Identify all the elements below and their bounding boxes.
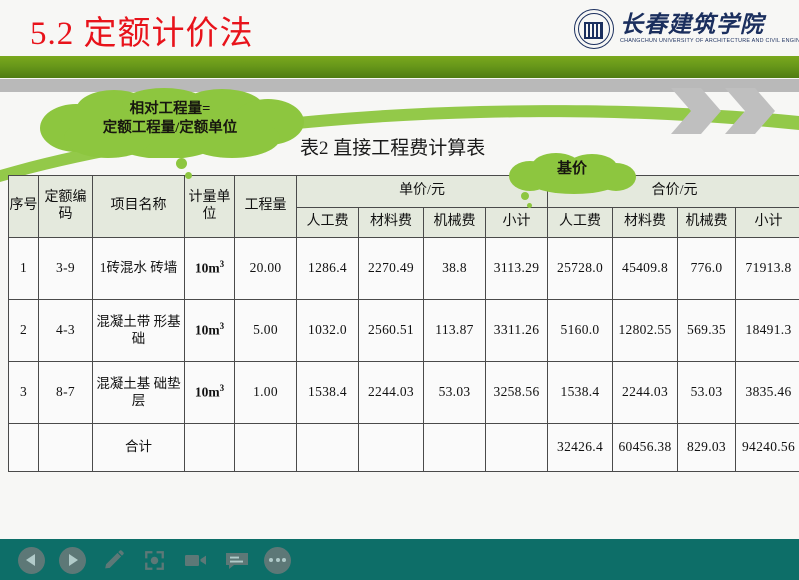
cell-measure-unit-exp: 3 (220, 321, 225, 331)
cell-item-name: 混凝土带 形基础 (93, 300, 185, 362)
previous-slide-icon (18, 547, 45, 574)
cell-measure-unit: 10m3 (185, 238, 235, 300)
cell-measure-unit-base: 10m (195, 385, 220, 400)
cell-total-unit-subtotal (486, 424, 548, 472)
triangle-left-glyph (26, 554, 35, 566)
cell-measure-unit: 10m3 (185, 300, 235, 362)
slide-header: 5.2 定额计价法 长春建筑学院 CHANGCHUN UNIVERSITY OF… (0, 0, 799, 56)
col-header-measure-unit: 计量单位 (185, 176, 235, 238)
next-slide-button[interactable] (59, 547, 86, 574)
more-options-icon (264, 547, 291, 574)
cell-unit-labor: 1032.0 (297, 300, 359, 362)
cell-unit-machine: 38.8 (424, 238, 486, 300)
logo-name-cn: 长春建筑学院 (620, 13, 799, 36)
table-row: 2 4-3 混凝土带 形基础 10m3 5.00 1032.0 2560.51 … (9, 300, 799, 362)
cell-quantity: 1.00 (235, 362, 297, 424)
cell-total-unit-material (359, 424, 424, 472)
cell-total-unit-machine (424, 424, 486, 472)
cell-total-labor: 1538.4 (548, 362, 613, 424)
cell-total-label: 合计 (93, 424, 185, 472)
cell-quota-code: 8-7 (39, 362, 93, 424)
cell-quantity: 5.00 (235, 300, 297, 362)
cell-unit-subtotal: 3311.26 (486, 300, 548, 362)
col-header-quota-code: 定额编码 (39, 176, 93, 238)
cell-unit-machine: 53.03 (424, 362, 486, 424)
cell-total-quantity (235, 424, 297, 472)
university-seal-icon (574, 9, 614, 49)
video-camera-button[interactable] (182, 547, 209, 574)
cell-serial-no: 3 (9, 362, 39, 424)
cell-measure-unit-exp: 3 (220, 383, 225, 393)
previous-slide-button[interactable] (18, 547, 45, 574)
fee-table-wrapper: 序号 定额编码 项目名称 计量单位 工程量 单价/元 合价/元 人工费 材料费 … (8, 175, 791, 472)
callout-tail-dot-large-2 (521, 192, 529, 200)
pen-button[interactable] (100, 547, 127, 574)
direct-engineering-fee-table: 序号 定额编码 项目名称 计量单位 工程量 单价/元 合价/元 人工费 材料费 … (8, 175, 799, 472)
table-row: 1 3-9 1砖混水 砖墙 10m3 20.00 1286.4 2270.49 … (9, 238, 799, 300)
ellipsis-glyph (269, 558, 286, 562)
col-header-total-subtotal: 小计 (736, 208, 799, 238)
col-header-total-labor: 人工费 (548, 208, 613, 238)
col-header-unit-material: 材料费 (359, 208, 424, 238)
presentation-toolbar (18, 546, 291, 574)
cell-unit-labor: 1538.4 (297, 362, 359, 424)
callout-cloud-base-price-text: 基价 (508, 160, 636, 180)
slide-canvas: 5.2 定额计价法 长春建筑学院 CHANGCHUN UNIVERSITY OF… (0, 0, 799, 580)
university-logo: 长春建筑学院 CHANGCHUN UNIVERSITY OF ARCHITECT… (574, 5, 789, 53)
pen-icon (101, 548, 126, 573)
cell-total-measure-unit (185, 424, 235, 472)
cell-total-machine: 53.03 (678, 362, 736, 424)
cell-item-name: 1砖混水 砖墙 (93, 238, 185, 300)
callout-cloud-relative-quantity-text: 相对工程量= 定额工程量/定额单位 (36, 100, 304, 138)
cell-unit-machine: 113.87 (424, 300, 486, 362)
table-caption: 表2 直接工程费计算表 (300, 133, 485, 160)
screenshot-icon (142, 548, 167, 573)
callout-tail-dot-small-2 (527, 203, 532, 208)
comment-button[interactable] (223, 547, 250, 574)
cell-total-subtotal: 71913.8 (736, 238, 799, 300)
table-total-row: 合计 32426.4 60456.38 829.03 94240.56 (9, 424, 799, 472)
seal-building-glyph (584, 22, 603, 39)
col-header-quantity: 工程量 (235, 176, 297, 238)
cell-sum-total-machine: 829.03 (678, 424, 736, 472)
table-header: 序号 定额编码 项目名称 计量单位 工程量 单价/元 合价/元 人工费 材料费 … (9, 176, 799, 238)
cell-total-machine: 776.0 (678, 238, 736, 300)
col-header-item-name: 项目名称 (93, 176, 185, 238)
cell-measure-unit-exp: 3 (220, 259, 225, 269)
cell-measure-unit-base: 10m (195, 261, 220, 276)
cell-measure-unit-base: 10m (195, 323, 220, 338)
cell-serial-no: 2 (9, 300, 39, 362)
green-divider-band (0, 56, 799, 78)
cell-total-material: 12802.55 (613, 300, 678, 362)
cell-quota-code: 4-3 (39, 300, 93, 362)
cell-total-subtotal: 18491.3 (736, 300, 799, 362)
cell-unit-material: 2560.51 (359, 300, 424, 362)
screenshot-button[interactable] (141, 547, 168, 574)
cell-unit-labor: 1286.4 (297, 238, 359, 300)
more-options-button[interactable] (264, 547, 291, 574)
col-header-serial-no: 序号 (9, 176, 39, 238)
triangle-right-glyph (69, 554, 78, 566)
chevron-decoration-group (671, 88, 791, 134)
chevron-right-icon-2 (725, 88, 775, 134)
col-header-total-material: 材料费 (613, 208, 678, 238)
video-camera-icon (183, 547, 209, 573)
cell-total-subtotal: 3835.46 (736, 362, 799, 424)
page-title: 5.2 定额计价法 (30, 6, 254, 54)
cell-unit-subtotal: 3258.56 (486, 362, 548, 424)
cell-total-quota-code (39, 424, 93, 472)
logo-text-block: 长春建筑学院 CHANGCHUN UNIVERSITY OF ARCHITECT… (620, 13, 799, 44)
logo-name-en: CHANGCHUN UNIVERSITY OF ARCHITECTURE AND… (620, 39, 799, 44)
col-header-unit-labor: 人工费 (297, 208, 359, 238)
cell-total-machine: 569.35 (678, 300, 736, 362)
cell-unit-subtotal: 3113.29 (486, 238, 548, 300)
cell-total-labor: 25728.0 (548, 238, 613, 300)
cell-sum-total-subtotal: 94240.56 (736, 424, 799, 472)
comment-icon (224, 548, 250, 572)
cell-total-serial-no (9, 424, 39, 472)
col-header-unit-machine: 机械费 (424, 208, 486, 238)
cell-unit-material: 2270.49 (359, 238, 424, 300)
cell-total-unit-labor (297, 424, 359, 472)
cell-sum-total-labor: 32426.4 (548, 424, 613, 472)
callout-tail-dot-large-1 (176, 158, 187, 169)
table-body: 1 3-9 1砖混水 砖墙 10m3 20.00 1286.4 2270.49 … (9, 238, 799, 472)
cell-unit-material: 2244.03 (359, 362, 424, 424)
cell-serial-no: 1 (9, 238, 39, 300)
cell-quantity: 20.00 (235, 238, 297, 300)
next-slide-icon (59, 547, 86, 574)
cell-item-name: 混凝土基 础垫层 (93, 362, 185, 424)
cell-measure-unit: 10m3 (185, 362, 235, 424)
table-header-row-1: 序号 定额编码 项目名称 计量单位 工程量 单价/元 合价/元 (9, 176, 799, 208)
cell-quota-code: 3-9 (39, 238, 93, 300)
col-header-total-machine: 机械费 (678, 208, 736, 238)
cell-total-labor: 5160.0 (548, 300, 613, 362)
col-header-unit-subtotal: 小计 (486, 208, 548, 238)
callout-tail-dot-small-1 (185, 172, 192, 179)
cell-sum-total-material: 60456.38 (613, 424, 678, 472)
cell-total-material: 45409.8 (613, 238, 678, 300)
chevron-right-icon-1 (671, 88, 721, 134)
cell-total-material: 2244.03 (613, 362, 678, 424)
table-row: 3 8-7 混凝土基 础垫层 10m3 1.00 1538.4 2244.03 … (9, 362, 799, 424)
